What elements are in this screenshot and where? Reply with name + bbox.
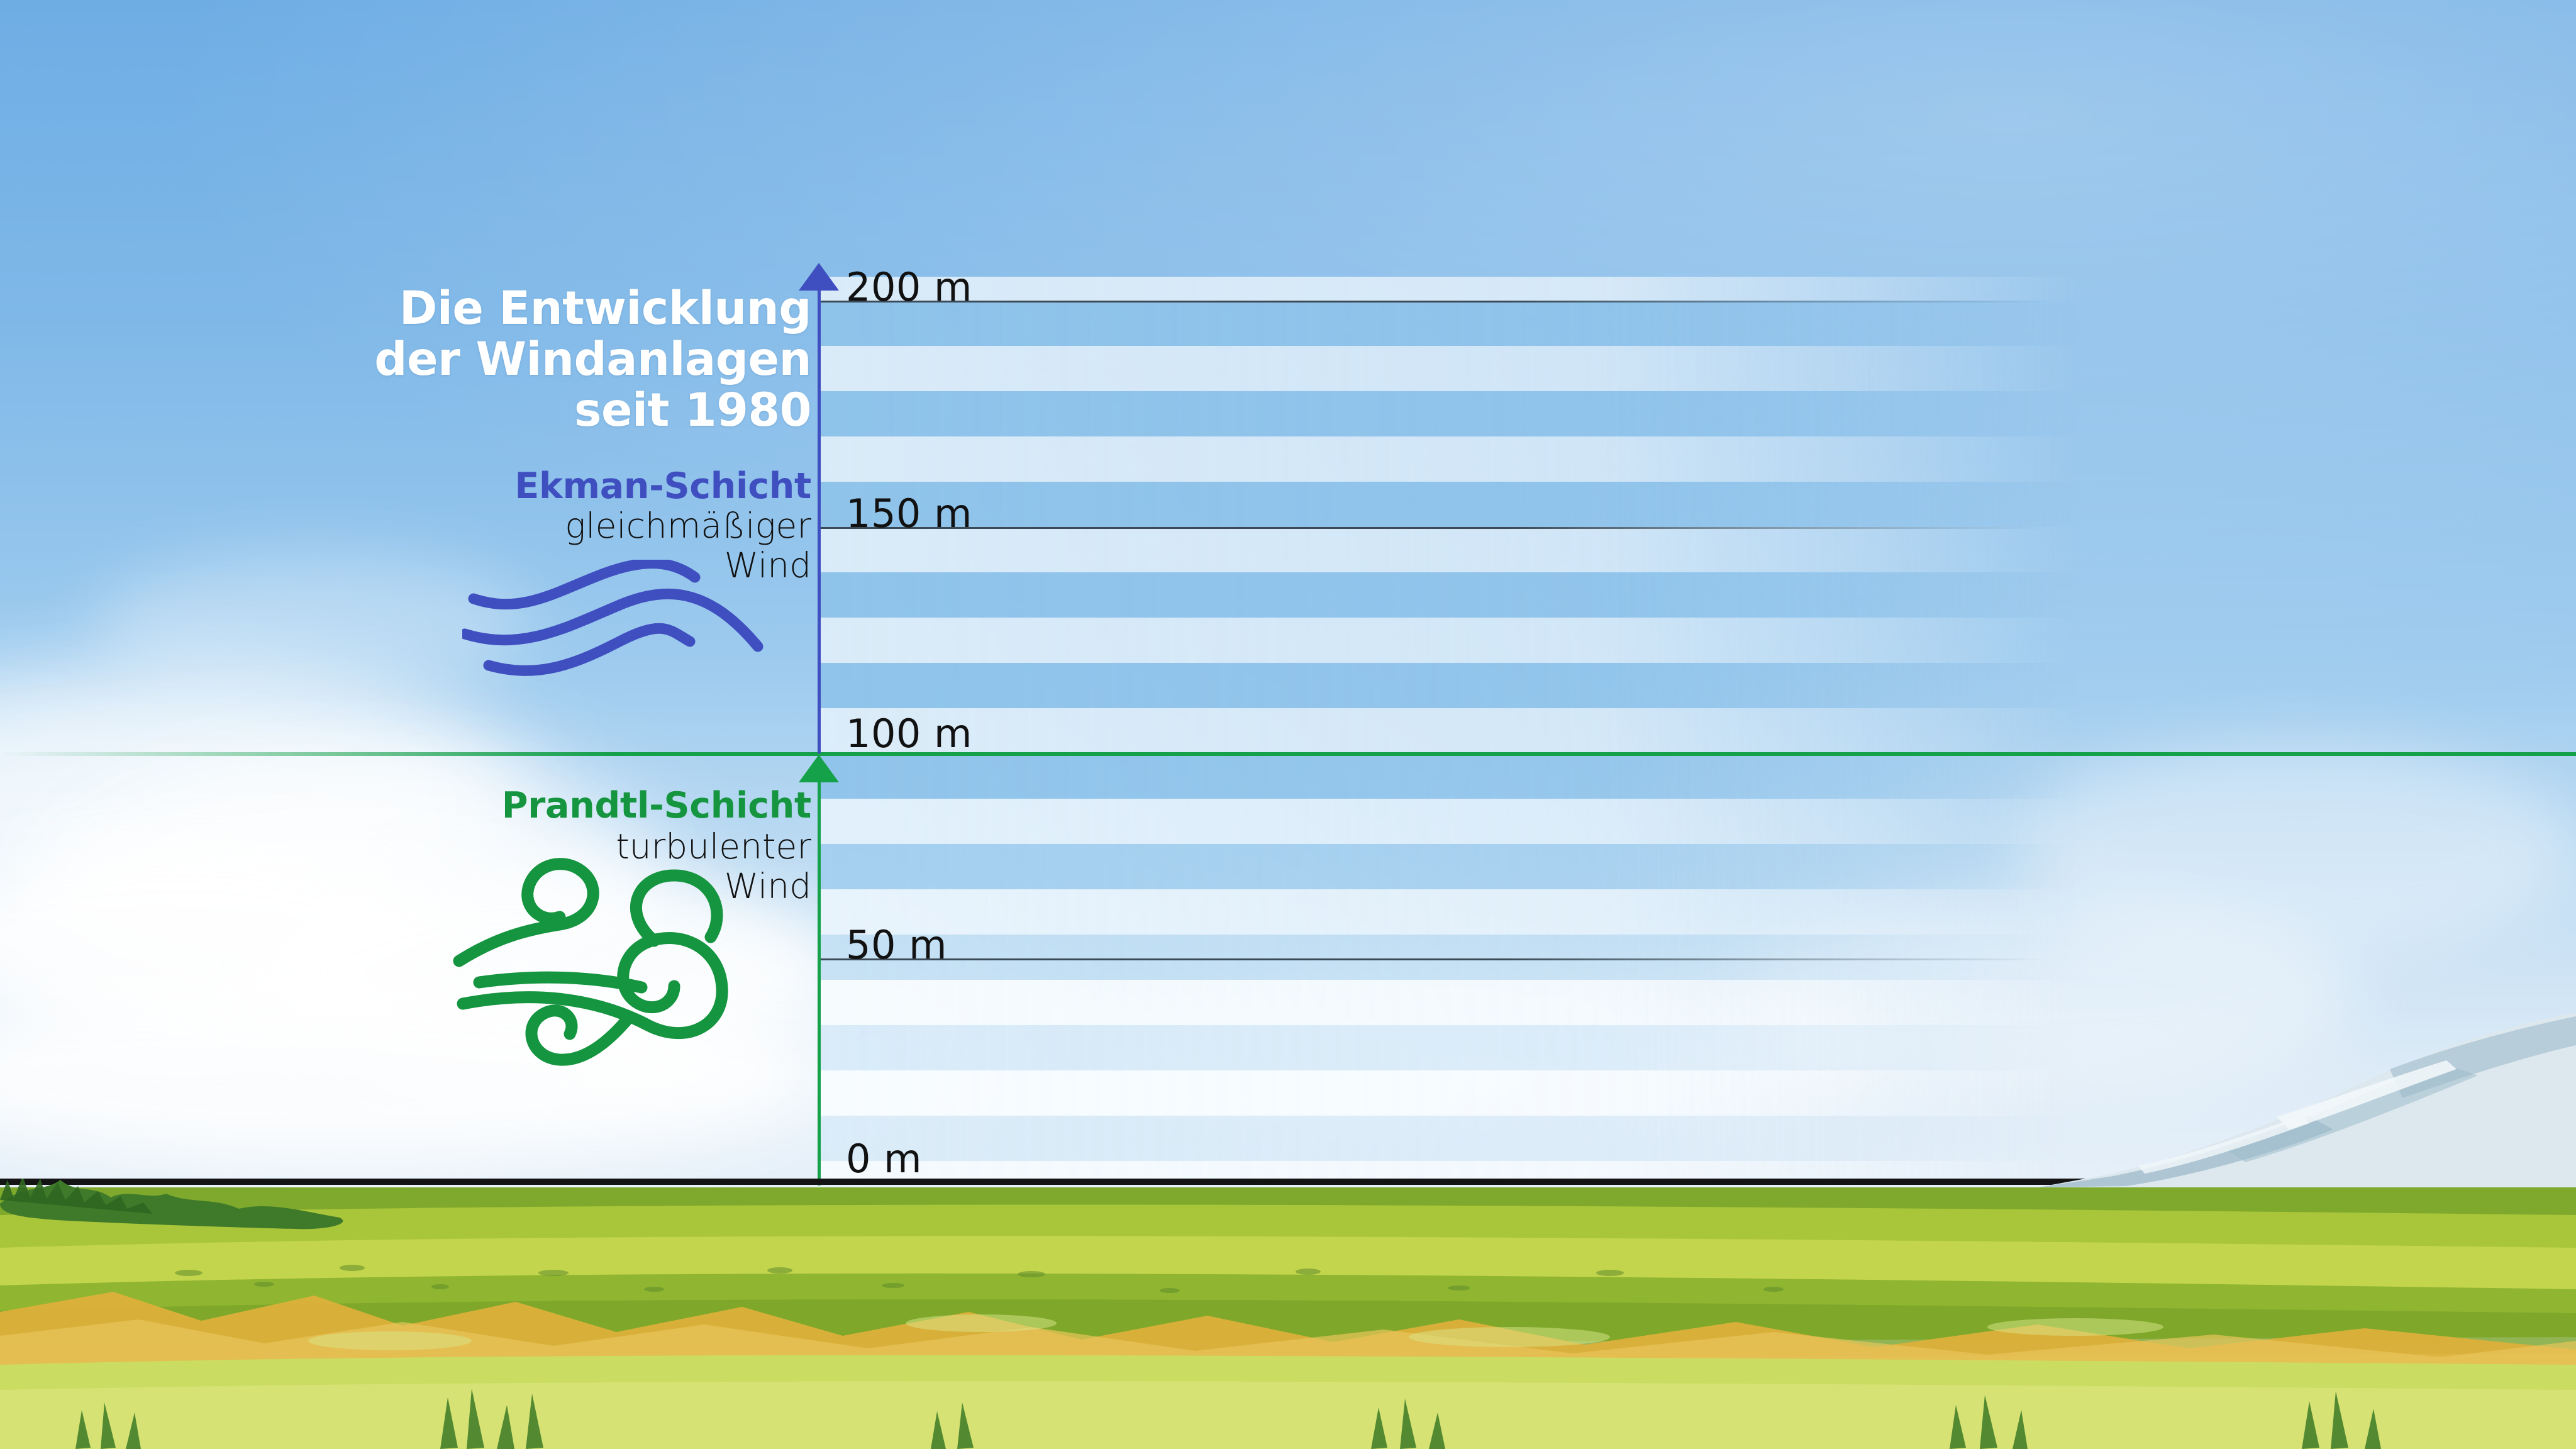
smooth-wind-lines-icon: [462, 560, 777, 686]
tick-label-100m: 100 m: [846, 711, 972, 757]
altitude-band-stripes: [818, 277, 2082, 1182]
page-title-line-1: Die Entwicklung: [374, 283, 811, 334]
axis-ekman: [818, 288, 821, 753]
axis-prandtl: [818, 780, 821, 1185]
tick-label-150m: 150 m: [846, 491, 972, 536]
page-title-line-3: seit 1980: [374, 385, 811, 436]
axis-prandtl-arrowhead: [799, 755, 839, 782]
layer-description-ekman-line-1: gleichmäßiger: [565, 506, 811, 546]
tick-label-200m: 200 m: [846, 264, 972, 310]
turbulent-wind-swirl-icon: [440, 818, 730, 1082]
gridline-200m: [819, 301, 2046, 303]
layer-label-ekman: Ekman-Schicht: [514, 465, 811, 507]
page-title-line-2: der Windanlagen: [374, 334, 811, 385]
gridline-150m: [819, 527, 2046, 529]
gridline-50m: [819, 958, 2046, 960]
snow-mountain-right: [2038, 987, 2576, 1195]
page-title: Die Entwicklung der Windanlagen seit 198…: [374, 283, 811, 436]
boundary-line-100m: [0, 752, 2576, 756]
foreground-meadow: [0, 1179, 2576, 1449]
infographic-canvas: 200 m 150 m 100 m 50 m 0 m Die Entwicklu…: [0, 0, 2576, 1449]
tick-label-50m: 50 m: [846, 922, 947, 968]
tick-label-0m: 0 m: [846, 1136, 922, 1182]
